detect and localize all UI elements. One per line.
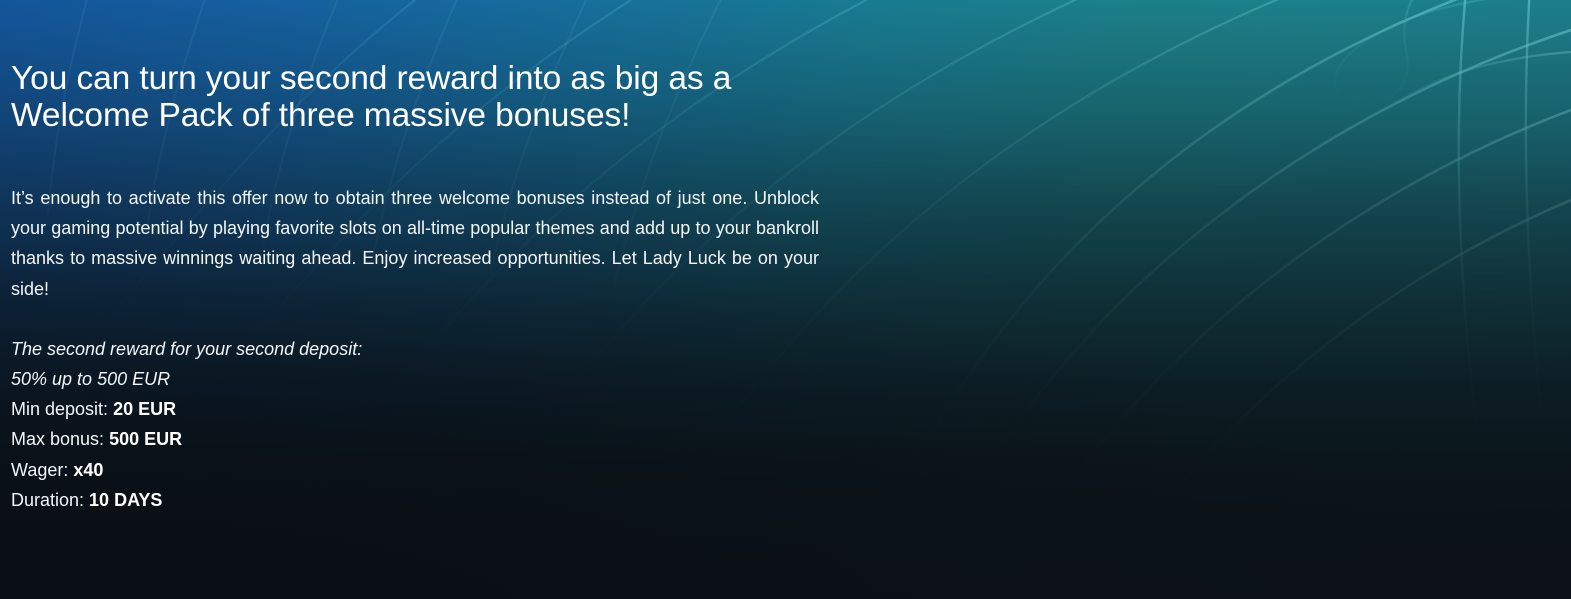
detail-value-duration: 10 DAYS [89, 490, 162, 510]
promo-description: It’s enough to activate this offer now t… [11, 134, 819, 304]
promo-banner: You can turn your second reward into as … [0, 0, 1571, 599]
detail-value-min-deposit: 20 EUR [113, 399, 176, 419]
detail-line-min-deposit: Min deposit: 20 EUR [11, 394, 819, 424]
promo-content: You can turn your second reward into as … [11, 0, 841, 515]
detail-label-max-bonus: Max bonus: [11, 429, 109, 449]
detail-line-reward-intro: The second reward for your second deposi… [11, 334, 819, 364]
detail-line-offer-amount: 50% up to 500 EUR [11, 364, 819, 394]
detail-line-max-bonus: Max bonus: 500 EUR [11, 424, 819, 454]
detail-value-wager: x40 [73, 460, 103, 480]
promo-headline: You can turn your second reward into as … [11, 0, 821, 134]
detail-line-duration: Duration: 10 DAYS [11, 485, 819, 515]
detail-label-min-deposit: Min deposit: [11, 399, 113, 419]
detail-value-max-bonus: 500 EUR [109, 429, 182, 449]
detail-line-wager: Wager: x40 [11, 455, 819, 485]
detail-label-duration: Duration: [11, 490, 89, 510]
detail-label-wager: Wager: [11, 460, 73, 480]
offer-details-list: The second reward for your second deposi… [11, 304, 819, 515]
